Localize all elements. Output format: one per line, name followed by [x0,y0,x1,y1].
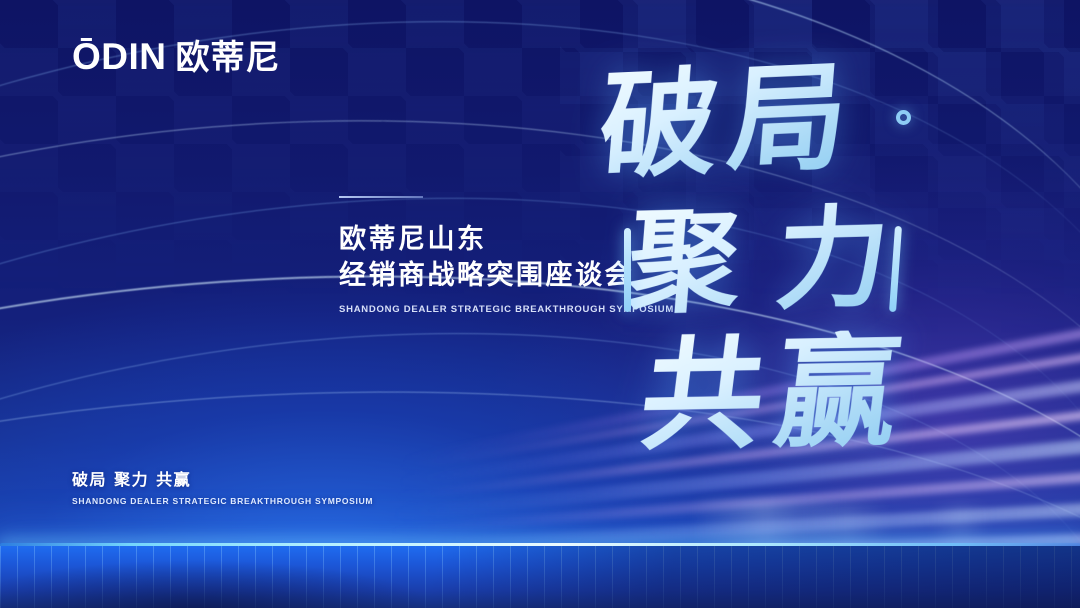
calligraphy-headline: 破局 聚力 共赢 [580,48,1010,468]
footer-slogan-block: 破局 聚力 共赢 SHANDONG DEALER STRATEGIC BREAK… [72,470,373,506]
brand-logo-latin: ŌDIN [72,38,167,75]
brand-logo-o-macron: Ō [72,38,101,75]
footer-slogan-english: SHANDONG DEALER STRATEGIC BREAKTHROUGH S… [72,496,373,506]
accent-bar-left-icon [624,228,631,312]
brand-logo-din: DIN [101,36,166,77]
title-divider-rule [339,196,423,198]
degree-circle-icon [896,110,911,125]
brand-logo: ŌDIN 欧蒂尼 [72,38,281,75]
calligraphy-line-3: 共赢 [634,329,918,456]
stage-floor [0,546,1080,608]
event-backdrop-poster: ŌDIN 欧蒂尼 欧蒂尼山东 经销商战略突围座谈会 SHANDONG DEALE… [0,0,1080,608]
calligraphy-line-1: 破局 [595,57,861,186]
floor-shading [0,546,1080,608]
calligraphy-line-2: 聚力 [624,200,930,320]
brand-logo-chinese: 欧蒂尼 [176,41,281,75]
light-ray [382,468,1080,536]
footer-slogan-chinese: 破局 聚力 共赢 [72,470,373,489]
